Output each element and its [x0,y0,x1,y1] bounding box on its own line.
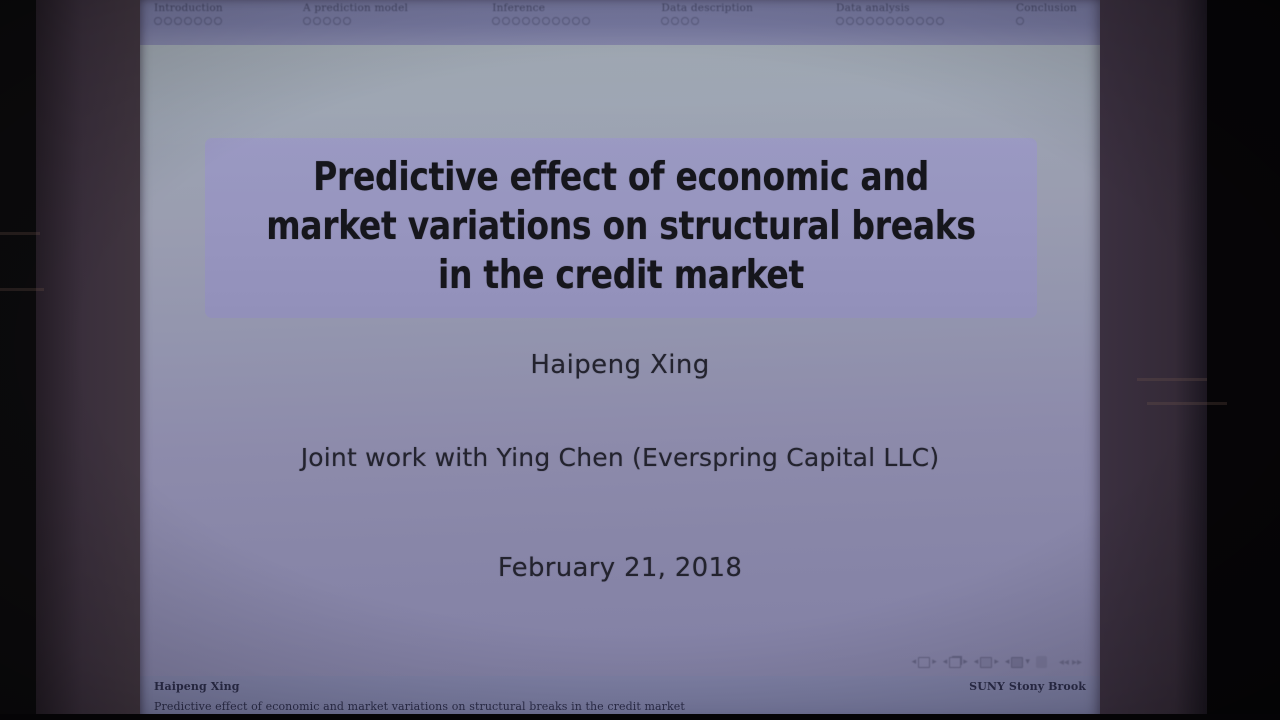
footline-row-title: Predictive effect of economic and market… [154,700,1086,713]
footline-author: Haipeng Xing [154,680,240,693]
frame-nav-group[interactable]: ◂ ▸ [943,657,968,668]
back-icon[interactable]: ◂ [943,658,948,667]
nav-slide-dot[interactable] [876,17,884,25]
room-dark-edge-left [0,0,36,720]
back-icon[interactable]: ◂ [974,658,979,667]
joint-work-note: Joint work with Ying Chen (Everspring Ca… [140,443,1100,472]
nav-slide-dot[interactable] [333,17,341,25]
nav-slide-dot[interactable] [661,17,669,25]
nav-slide-dot[interactable] [866,17,874,25]
back-icon[interactable]: ◂ [1005,658,1010,667]
projector-photo: Introduction A prediction model [0,0,1280,720]
nav-section-a-prediction-model[interactable]: A prediction model [289,3,478,25]
title-block: Predictive effect of economic and market… [205,138,1037,318]
nav-slide-dot[interactable] [926,17,934,25]
wall-right [1100,0,1207,720]
jump-nav-group[interactable]: ◂◂ ▸▸ [1059,657,1082,668]
nav-slide-dot[interactable] [492,17,500,25]
beginning-icon[interactable]: ◂◂ [1059,657,1069,668]
document-icon[interactable] [1036,656,1047,668]
nav-section-data-analysis[interactable]: Data analysis [822,3,1002,25]
nav-slide-dot[interactable] [194,17,202,25]
page-title: Predictive effect of economic and market… [247,154,995,300]
nav-slide-dot[interactable] [671,17,679,25]
nav-slide-dot[interactable] [214,17,222,25]
footline-row-author: Haipeng Xing SUNY Stony Brook [154,680,1086,693]
beamer-navigation-bar: Introduction A prediction model [140,0,1100,45]
footline-title: Predictive effect of economic and market… [154,700,685,713]
nav-slide-dot[interactable] [582,17,590,25]
forward-icon[interactable]: ▸ [994,658,999,667]
nav-section-label: Data analysis [836,3,1002,14]
section-nav-group[interactable]: ◂ ▾ [1005,657,1030,668]
nav-slide-dot[interactable] [856,17,864,25]
nav-section-label: Inference [492,3,647,14]
slide-icon[interactable] [918,657,930,668]
nav-slide-dot[interactable] [896,17,904,25]
nav-slide-dot[interactable] [542,17,550,25]
footline-institute: SUNY Stony Brook [969,680,1086,693]
nav-section-dots [661,17,822,25]
wall-scuff-3 [1137,378,1207,381]
nav-section-dots [303,17,478,25]
nav-slide-dot[interactable] [323,17,331,25]
nav-section-dots [154,17,289,25]
nav-slide-dot[interactable] [681,17,689,25]
forward-icon[interactable]: ▾ [1025,658,1030,667]
nav-slide-dot[interactable] [512,17,520,25]
beamer-navigation-symbols[interactable]: ◂ ▸ ◂ ▸ ◂ ▸ ◂ ▾ ◂◂ [912,656,1082,668]
nav-slide-dot[interactable] [502,17,510,25]
back-icon[interactable]: ◂ [912,658,917,667]
author-name: Haipeng Xing [140,350,1100,380]
forward-icon[interactable]: ▸ [932,658,937,667]
nav-slide-dot[interactable] [343,17,351,25]
nav-slide-dot[interactable] [886,17,894,25]
nav-slide-dot[interactable] [174,17,182,25]
nav-slide-dot[interactable] [303,17,311,25]
nav-slide-dot[interactable] [532,17,540,25]
document-nav-group[interactable] [1036,656,1047,668]
nav-section-conclusion[interactable]: Conclusion [1002,3,1100,25]
nav-slide-dot[interactable] [184,17,192,25]
slide-nav-group[interactable]: ◂ ▸ [912,657,937,668]
subsection-icon[interactable] [980,657,992,668]
nav-section-label: Data description [661,3,822,14]
nav-slide-dot[interactable] [836,17,844,25]
nav-section-inference[interactable]: Inference [478,3,647,25]
nav-slide-dot[interactable] [522,17,530,25]
presentation-date: February 21, 2018 [140,553,1100,583]
nav-section-dots [1016,17,1100,25]
end-icon[interactable]: ▸▸ [1072,657,1082,668]
nav-slide-dot[interactable] [1016,17,1024,25]
nav-slide-dot[interactable] [572,17,580,25]
wall-scuff-2 [0,288,44,291]
room-dark-edge-right [1207,0,1280,720]
subsection-nav-group[interactable]: ◂ ▸ [974,657,999,668]
section-icon[interactable] [1011,657,1023,668]
nav-slide-dot[interactable] [204,17,212,25]
nav-section-data-description[interactable]: Data description [647,3,822,25]
nav-slide-dot[interactable] [154,17,162,25]
nav-section-dots [836,17,1002,25]
nav-slide-dot[interactable] [552,17,560,25]
nav-section-dots [492,17,647,25]
nav-slide-dot[interactable] [164,17,172,25]
nav-slide-dot[interactable] [691,17,699,25]
nav-section-label: Conclusion [1016,3,1100,14]
wall-scuff-1 [0,232,40,235]
frame-icon[interactable] [949,657,961,668]
nav-slide-dot[interactable] [562,17,570,25]
forward-icon[interactable]: ▸ [963,658,968,667]
photo-bottom-border [0,714,1280,720]
nav-slide-dot[interactable] [846,17,854,25]
nav-section-label: A prediction model [303,3,478,14]
wall-scuff-4 [1147,402,1227,405]
nav-slide-dot[interactable] [906,17,914,25]
nav-slide-dot[interactable] [313,17,321,25]
nav-section-label: Introduction [154,3,289,14]
nav-section-introduction[interactable]: Introduction [140,3,289,25]
nav-slide-dot[interactable] [916,17,924,25]
wall-left [36,0,140,720]
nav-slide-dot[interactable] [936,17,944,25]
presentation-slide: Introduction A prediction model [140,0,1100,720]
